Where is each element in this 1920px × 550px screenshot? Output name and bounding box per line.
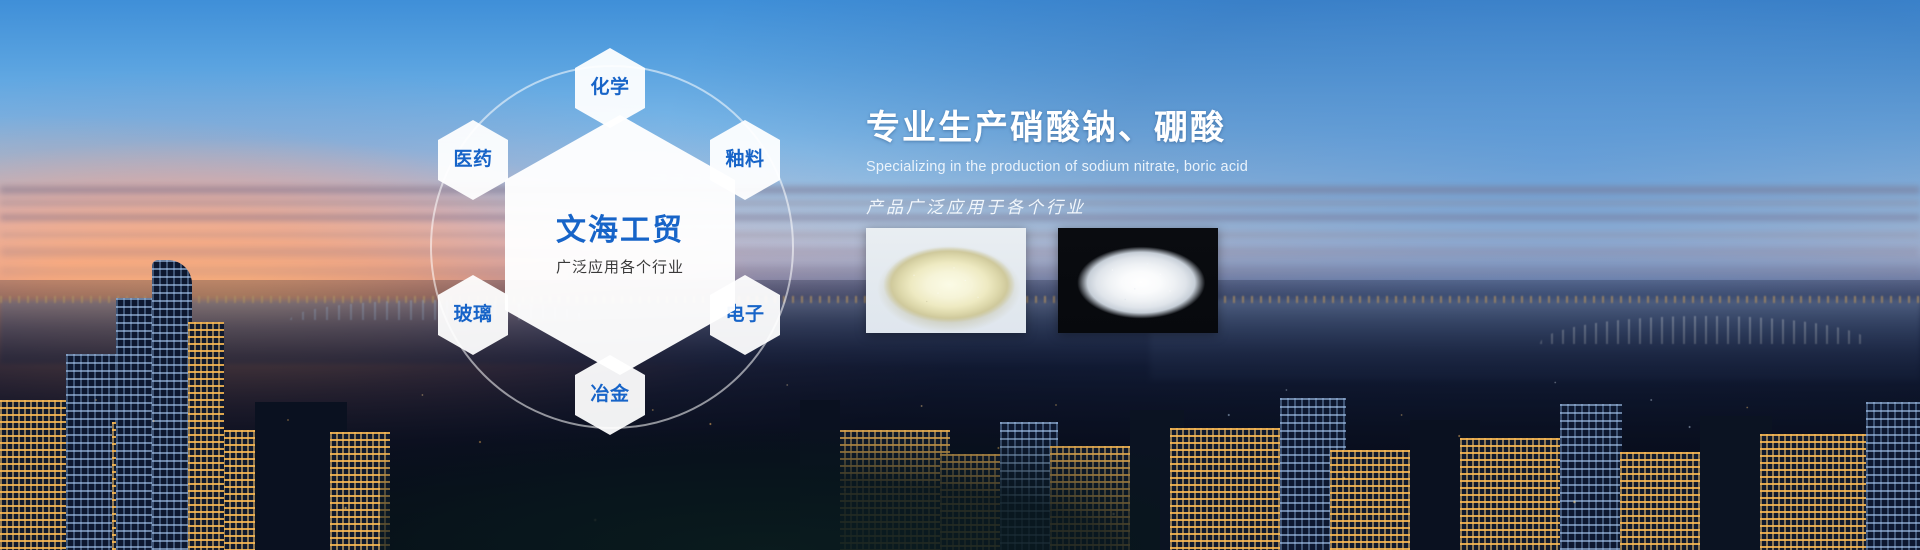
product-photo-caption: 硼酸 (1058, 318, 1218, 331)
product-photo-boric-acid[interactable]: 硼酸 (1058, 228, 1218, 333)
hex-label: 冶金 (590, 384, 629, 406)
hex-label: 釉料 (725, 149, 764, 171)
product-photo-sodium-nitrate[interactable]: 硝酸钠 (866, 228, 1026, 333)
hex-label: 医药 (453, 149, 492, 171)
brand-name: 文海工贸 (556, 214, 684, 249)
banner-copy: 专业生产硝酸钠、硼酸 Specializing in the productio… (866, 100, 1486, 218)
banner-headline: 专业生产硝酸钠、硼酸 (866, 100, 1486, 149)
industry-hex-diagram: 化学 釉料 电子 冶金 玻璃 医药 文海工贸 广泛应用各个行业 (400, 20, 840, 530)
brand-tagline: 广泛应用各个行业 (556, 259, 684, 276)
product-photo-caption: 硝酸钠 (866, 318, 1026, 331)
banner-subtitle-cn: 产品广泛应用于各个行业 (866, 193, 1486, 218)
hex-label: 化学 (590, 77, 629, 99)
banner-subtitle-en: Specializing in the production of sodium… (866, 159, 1486, 175)
product-photo-group: 硝酸钠 硼酸 (866, 228, 1218, 333)
promo-banner: 化学 釉料 电子 冶金 玻璃 医药 文海工贸 广泛应用各个行业 专业生产硝酸钠、… (0, 0, 1920, 550)
hex-label: 玻璃 (453, 304, 492, 326)
